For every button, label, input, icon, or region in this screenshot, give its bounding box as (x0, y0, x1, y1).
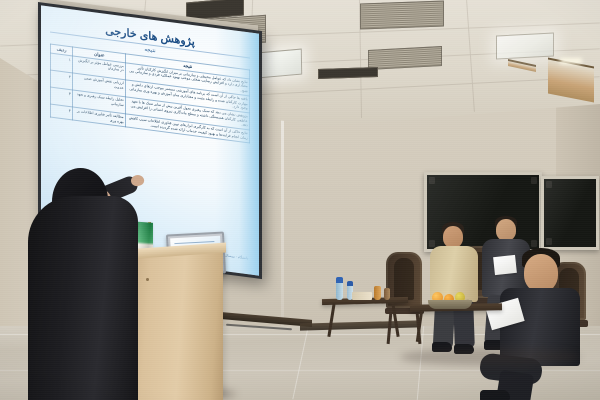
water-bottle-1 (336, 282, 343, 300)
wooden-podium (126, 252, 223, 400)
ceiling-vent-2 (360, 1, 444, 30)
wall-fixture-highlight (560, 58, 582, 64)
audience-shadow (400, 348, 580, 366)
presenter-woman-at-podium (28, 196, 138, 400)
slide-footer: دانشگاه - نیمسال (225, 254, 248, 261)
ceiling-vent-6 (318, 67, 378, 79)
ceiling-vent-3 (368, 46, 442, 70)
juice-box-2 (384, 288, 390, 300)
chalkboard-right (541, 176, 599, 250)
cell-num: ۴ (50, 104, 73, 120)
audience-man-tan-shirt (428, 222, 482, 354)
ceiling-light-panel-2 (496, 32, 554, 59)
water-bottle-2-cap (347, 281, 353, 286)
photo-scene: پژوهش های خارجی نتیجه نتیجه عنوان ردیف ن… (0, 0, 600, 400)
fruit-bowl (428, 300, 472, 309)
snack-tray (352, 292, 372, 300)
wall-corner-seam (281, 96, 284, 326)
juice-box-1 (374, 286, 381, 300)
podium-knob (146, 278, 149, 281)
water-bottle-1-cap (336, 277, 343, 283)
audience-man-foreground-suit (494, 248, 588, 400)
